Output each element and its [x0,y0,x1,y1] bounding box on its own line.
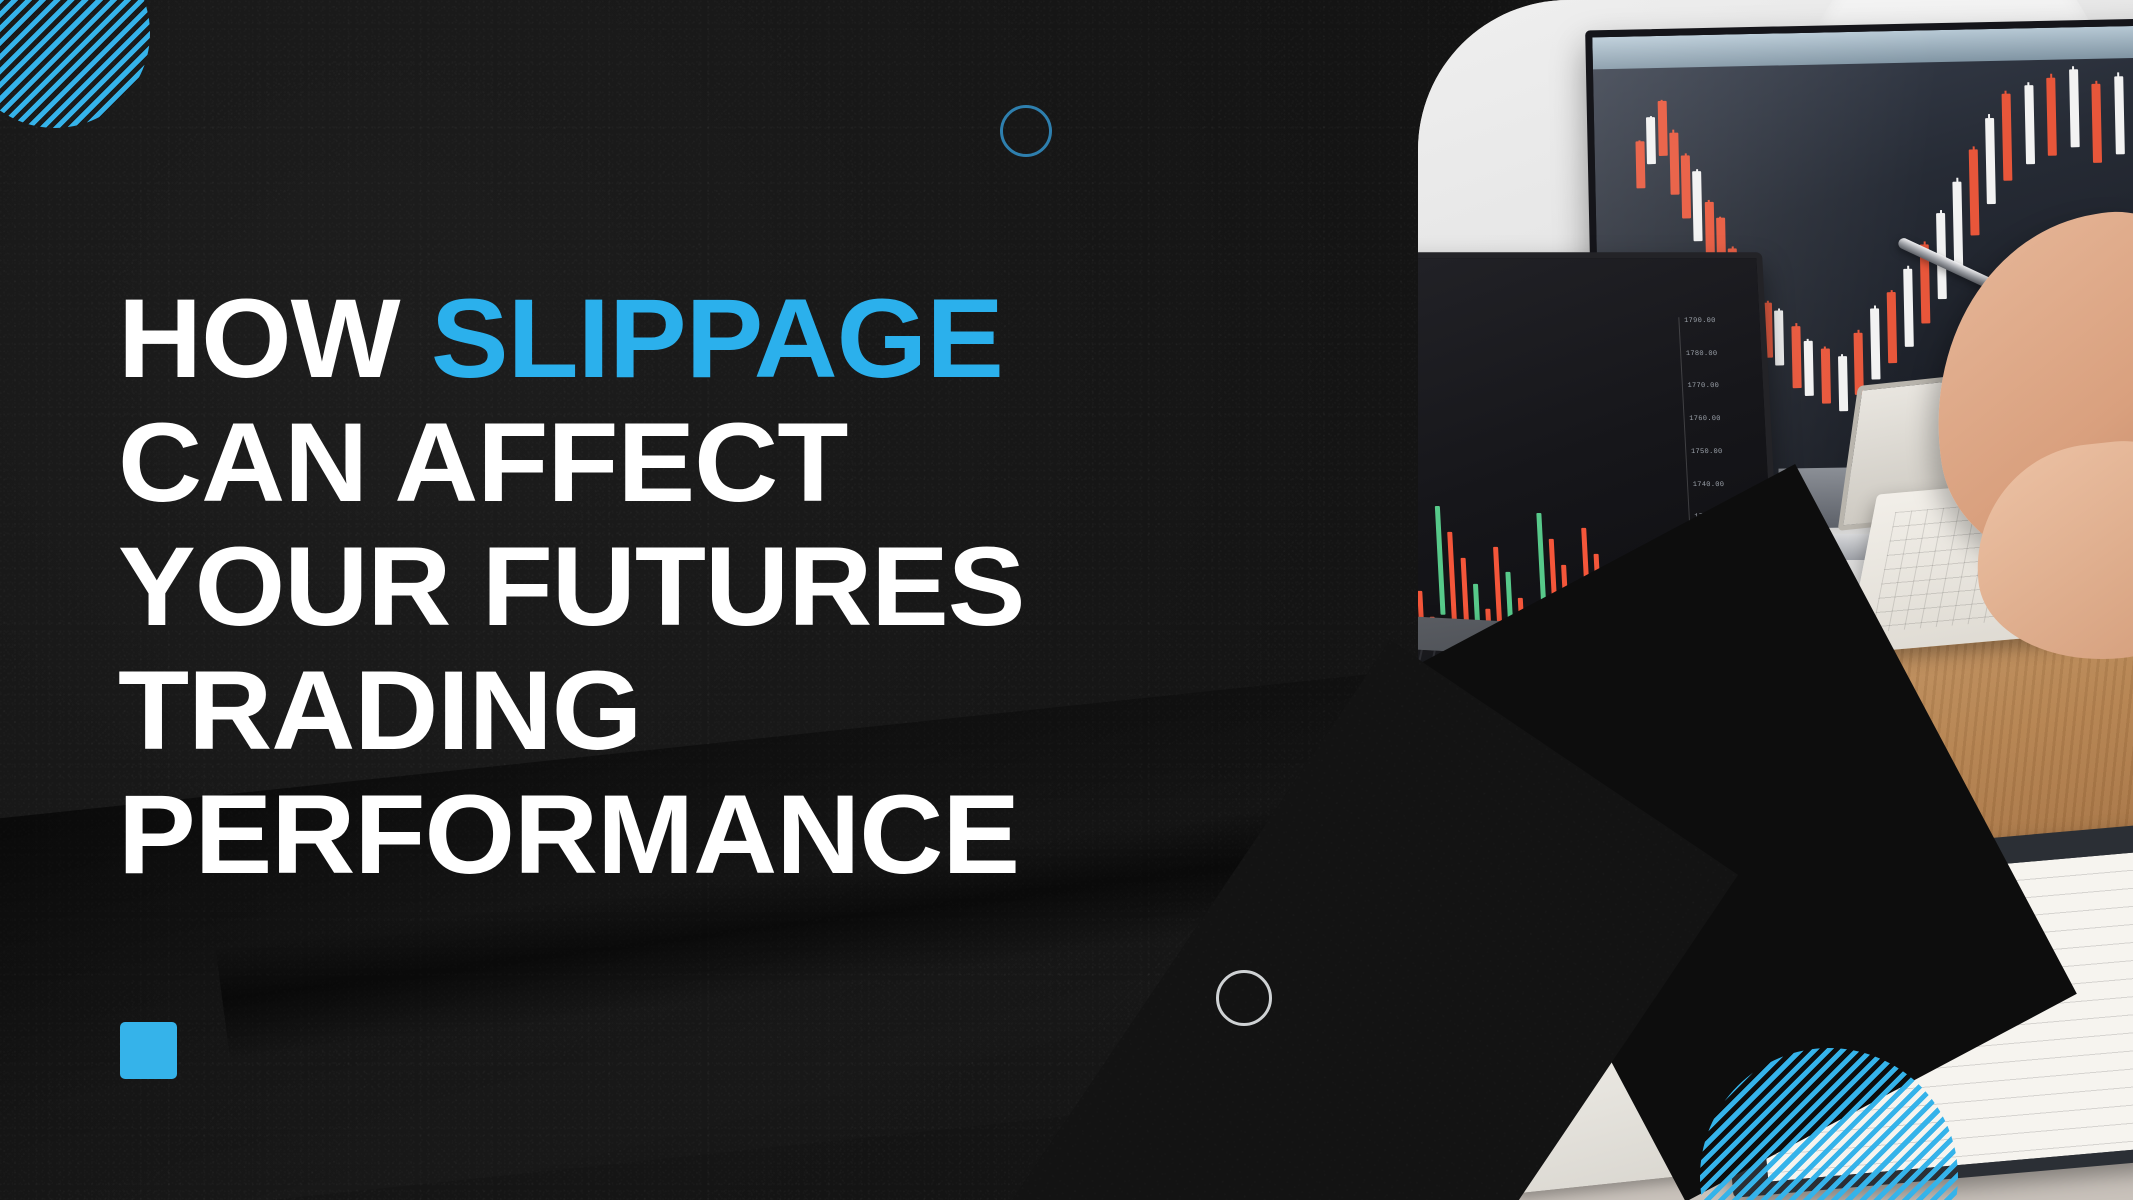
laptop-axis-tick-label: 1780.00 [1686,350,1718,358]
candlestick-bar [2091,84,2102,163]
laptop-axis-tick-label: 1750.00 [1691,448,1723,456]
page-title-accent-word: SLIPPAGE [431,276,1003,401]
candlestick-wick [2049,74,2051,94]
candlestick-wick [2095,81,2097,101]
laptop-axis-tick-label: 1760.00 [1689,415,1721,423]
candlestick-bar [2001,94,2012,180]
circle-outline-icon-bottom [1216,970,1272,1026]
page-title: HOW SLIPPAGECAN AFFECTYOUR FUTURESTRADIN… [118,283,1308,903]
poster-canvas: 1688.25 1790.001780.001770.001760.001750… [0,0,2133,1200]
circle-outline-icon-top [1000,105,1052,157]
candlestick-bar [2068,69,2079,148]
candlestick-wick [2027,83,2029,103]
laptop-axis-tick-label: 1790.00 [1684,317,1716,325]
page-title-line-5: PERFORMANCE [118,779,1356,891]
candlestick-bar [2046,77,2057,156]
square-accent-icon [120,1022,177,1079]
page-title-line-1: HOW SLIPPAGE [118,283,1356,395]
page-title-line-4: TRADING [118,655,1356,767]
laptop-candlestick-bar [1447,532,1457,621]
candlestick-wick [2072,66,2074,86]
candlestick-bar [2023,86,2034,165]
laptop-candlestick-bar [1435,506,1446,615]
page-title-line-3: YOUR FUTURES [118,531,1356,643]
candlestick-bar [2114,76,2125,155]
page-title-line-2: CAN AFFECT [118,407,1356,519]
candlestick-wick [2117,73,2119,93]
candlestick-wick [2005,91,2008,115]
laptop-candlestick-bar [1460,558,1469,626]
hero-photo: 1688.25 1790.001780.001770.001760.001750… [1418,0,2133,1200]
laptop-axis-tick-label: 1770.00 [1687,382,1719,390]
laptop-axis-tick-label: 1740.00 [1692,481,1724,489]
photo-scene: 1688.25 1790.001780.001770.001760.001750… [1418,0,2133,1200]
